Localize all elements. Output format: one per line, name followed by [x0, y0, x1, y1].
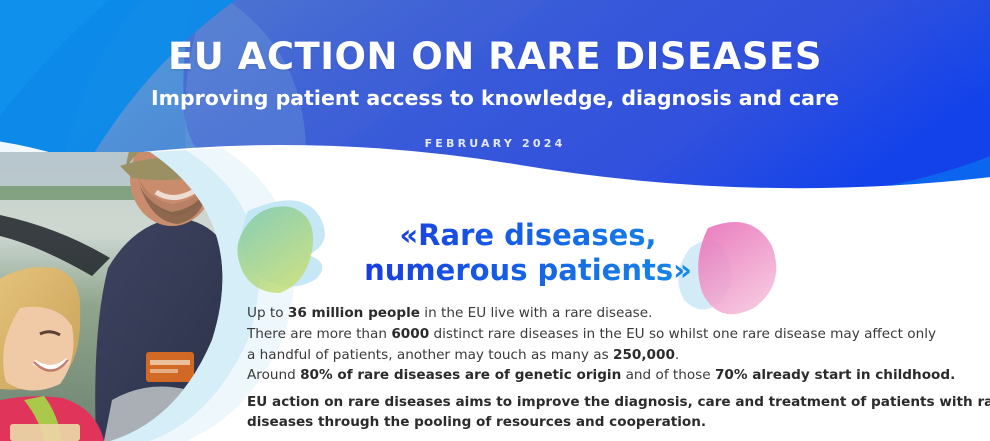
- body-line-1-part-c: in the EU live with a rare disease.: [420, 305, 652, 321]
- closing-line-1: EU action on rare diseases aims to impro…: [247, 392, 947, 412]
- body-line-3-emphasis: 250,000: [613, 347, 675, 363]
- closing-line-2: diseases through the pooling of resource…: [247, 412, 947, 432]
- body-line-2: There are more than 6000 distinct rare d…: [247, 324, 947, 345]
- infographic-poster: EU ACTION ON RARE DISEASES Improving pat…: [0, 0, 990, 441]
- closing-statement: EU action on rare diseases aims to impro…: [247, 392, 947, 433]
- body-line-3-part-c: .: [675, 347, 679, 363]
- body-line-1-part-a: Up to: [247, 305, 288, 321]
- body-copy: Up to 36 million people in the EU live w…: [247, 303, 947, 386]
- body-line-4-emphasis-1: 80% of rare diseases are of genetic orig…: [300, 367, 621, 383]
- body-line-2-part-c: distinct rare diseases in the EU so whil…: [429, 326, 936, 342]
- body-line-2-part-a: There are more than: [247, 326, 391, 342]
- body-line-1: Up to 36 million people in the EU live w…: [247, 303, 947, 324]
- body-line-2-emphasis: 6000: [391, 326, 429, 342]
- body-line-4-part-a: Around: [247, 367, 300, 383]
- body-line-3: a handful of patients, another may touch…: [247, 345, 947, 366]
- body-line-4: Around 80% of rare diseases are of genet…: [247, 365, 947, 386]
- body-line-4-part-c: and of those: [621, 367, 715, 383]
- pull-quote: «Rare diseases, numerous patients»: [248, 218, 808, 289]
- body-line-4-emphasis-2: 70% already start in childhood.: [715, 367, 955, 383]
- body-line-1-emphasis: 36 million people: [288, 305, 420, 321]
- body-line-3-part-a: a handful of patients, another may touch…: [247, 347, 613, 363]
